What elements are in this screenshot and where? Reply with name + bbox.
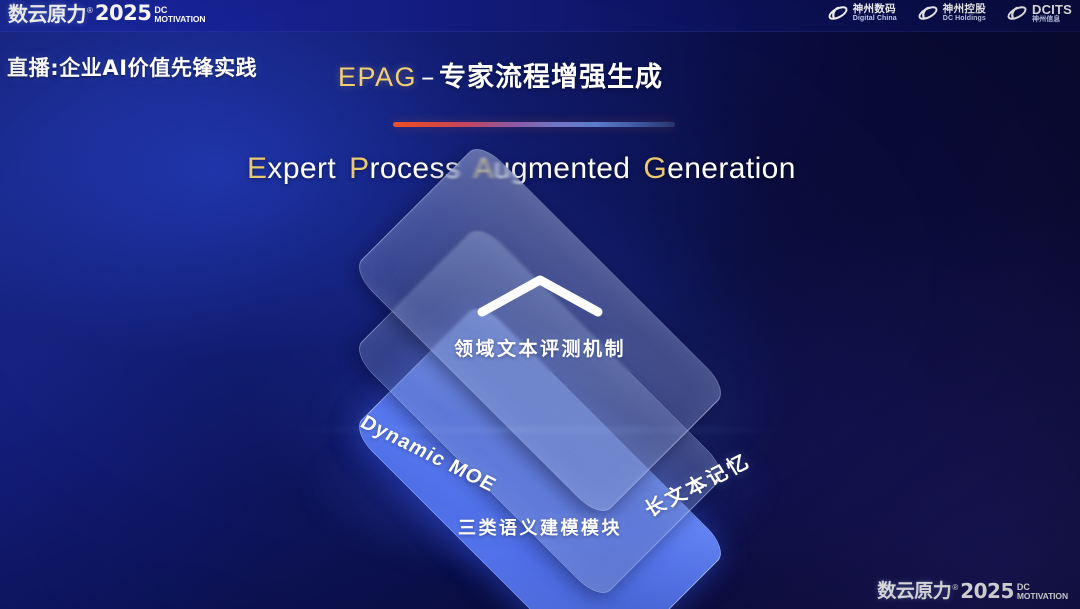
swirl-logo-icon bbox=[1006, 2, 1028, 24]
swirl-logo-icon bbox=[917, 2, 939, 24]
partner-1-name-en: Digital China bbox=[853, 15, 897, 22]
brand-dc-motivation: DC MOTIVATION bbox=[154, 6, 205, 23]
diagram-label-bottom: 三类语义建模模块 bbox=[458, 514, 622, 540]
partner-logo-2-text: 神州控股 DC Holdings bbox=[943, 4, 986, 22]
partner-logo-row: 神州数码 Digital China 神州控股 DC Holdings bbox=[827, 2, 1072, 24]
live-banner-text: 直播:企业AI价值先锋实践 bbox=[7, 52, 257, 82]
title-chinese: 专家流程增强生成 bbox=[439, 62, 663, 93]
watermark-year: 2025 bbox=[960, 581, 1014, 601]
title-acronym: EPAG bbox=[338, 62, 417, 92]
partner-logo-3: DCITS 神州信息 bbox=[1006, 2, 1072, 24]
layered-architecture-diagram: 领域文本评测机制 Dynamic MOE 长文本记忆 三类语义建模模块 bbox=[286, 228, 794, 568]
subtitle-word-1-rest: xpert bbox=[267, 152, 336, 185]
diagram-layer-top-plate bbox=[351, 141, 729, 519]
partner-logo-2: 神州控股 DC Holdings bbox=[917, 2, 986, 24]
title-dash: – bbox=[417, 62, 439, 93]
brand-logo-watermark: 数云原力 ® 2025 DC MOTIVATION bbox=[877, 581, 1068, 601]
partner-2-name-cn: 神州控股 bbox=[943, 4, 986, 15]
chevron-up-icon bbox=[472, 272, 608, 318]
registered-mark-icon: ® bbox=[87, 7, 93, 15]
partner-3-name-cn: DCITS bbox=[1032, 3, 1072, 17]
gradient-divider bbox=[393, 122, 675, 127]
partner-1-name-cn: 神州数码 bbox=[853, 4, 897, 15]
watermark-name-cn: 数云原力 bbox=[877, 582, 951, 601]
diagram-label-top: 领域文本评测机制 bbox=[454, 334, 626, 361]
brand-name-cn: 数云原力 bbox=[8, 4, 86, 24]
partner-logo-1: 神州数码 Digital China bbox=[827, 2, 897, 24]
watermark-registered-mark-icon: ® bbox=[952, 584, 958, 592]
partner-3-name-en: 神州信息 bbox=[1032, 16, 1072, 23]
swirl-logo-icon bbox=[827, 2, 849, 24]
subtitle-word-1-initial: E bbox=[247, 152, 267, 185]
partner-logo-3-text: DCITS 神州信息 bbox=[1032, 3, 1072, 24]
watermark-dc-motivation: DC MOTIVATION bbox=[1017, 583, 1068, 600]
brand-year: 2025 bbox=[95, 3, 151, 24]
partner-logo-1-text: 神州数码 Digital China bbox=[853, 4, 897, 22]
watermark-motivation-label: MOTIVATION bbox=[1017, 592, 1068, 600]
page-title: EPAG–专家流程增强生成 bbox=[338, 55, 663, 94]
brand-logo-header: 数云原力 ® 2025 DC MOTIVATION bbox=[8, 3, 205, 24]
brand-motivation-label: MOTIVATION bbox=[154, 15, 205, 23]
subtitle-word-1: Expert bbox=[247, 152, 336, 185]
partner-2-name-en: DC Holdings bbox=[943, 15, 986, 22]
slide-canvas: 数云原力 ® 2025 DC MOTIVATION 神州数码 Digital C… bbox=[0, 0, 1080, 609]
